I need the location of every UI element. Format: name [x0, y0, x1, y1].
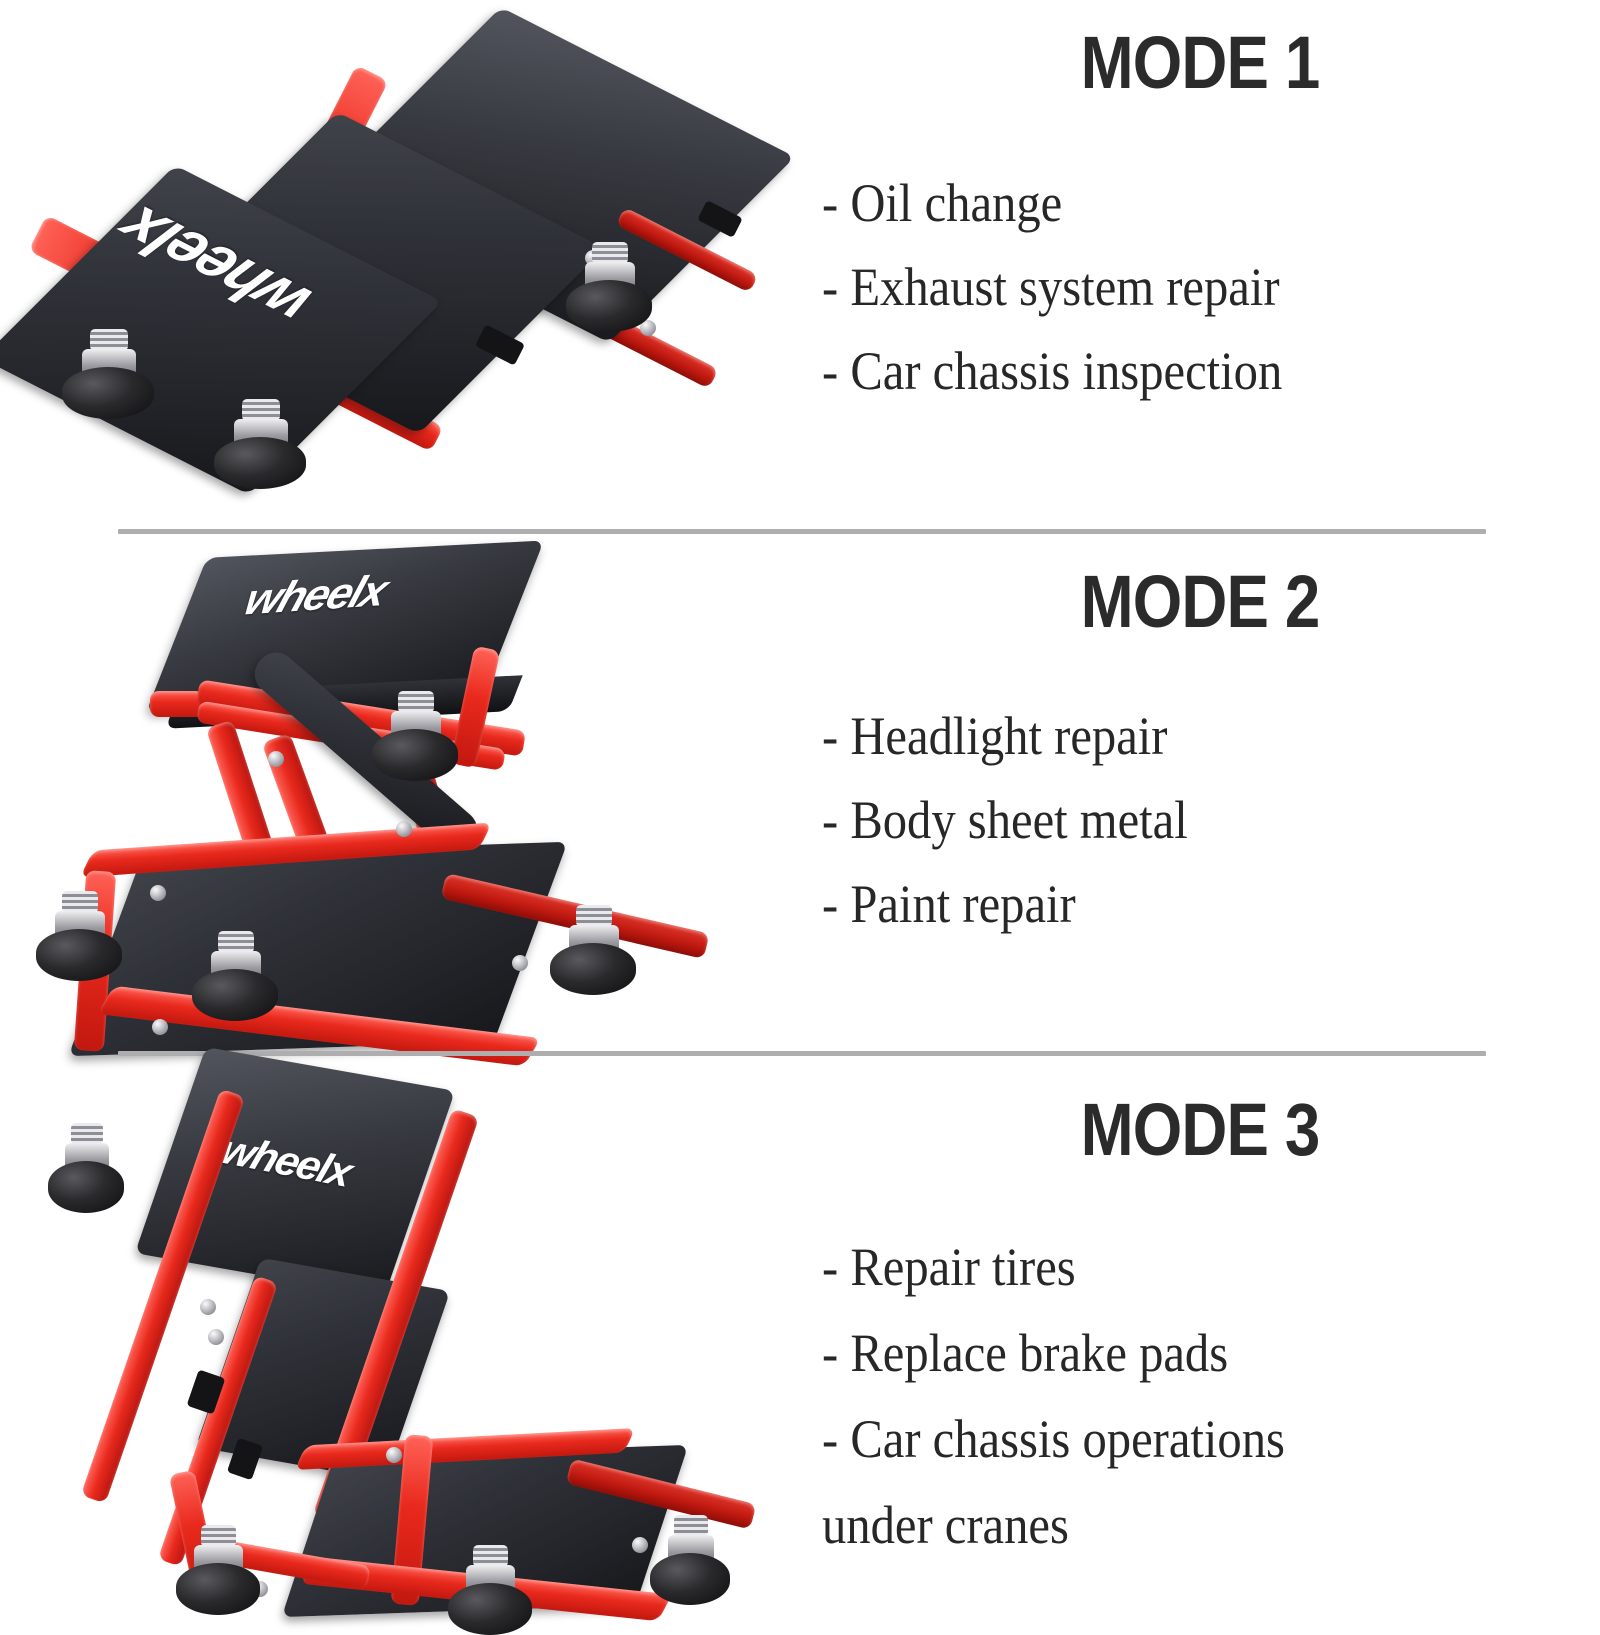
- caster-spring: [242, 399, 281, 421]
- bolt-mid: [396, 821, 412, 837]
- caster-seat-right: [372, 707, 458, 783]
- caster-tire: [214, 437, 306, 489]
- caster-tire: [550, 943, 636, 995]
- mode-section-3: wheelx: [0, 1041, 1600, 1588]
- caster-spring: [62, 891, 98, 913]
- creeper-flat-illustration: wheelx: [0, 0, 800, 519]
- bullet-dash: -: [822, 329, 838, 413]
- mode-1-text-column: MODE 1 - Oil change - Exhaust system rep…: [800, 0, 1600, 519]
- list-item: - Replace brake pads: [822, 1310, 1522, 1396]
- caster-tire: [192, 969, 278, 1021]
- caster-tire: [372, 729, 458, 781]
- bullet-text: Paint repair: [850, 874, 1075, 934]
- mode-2-feature-list: - Headlight repair - Body sheet metal - …: [800, 694, 1600, 946]
- caster-front-left: [176, 1541, 260, 1615]
- bolt-base-right: [512, 955, 528, 971]
- frame-tab-left: [150, 691, 204, 717]
- bolt-base-left: [150, 885, 166, 901]
- bullet-text: Body sheet metal: [850, 790, 1187, 850]
- bullet-dash: -: [822, 1224, 838, 1310]
- bolt-backrest-lower: [208, 1329, 224, 1345]
- creeper-chair-illustration: wheelx: [0, 1041, 800, 1588]
- product-image-mode-3: wheelx: [0, 1041, 800, 1588]
- bullet-text: Repair tires: [850, 1237, 1075, 1297]
- caster-front-left: [62, 345, 154, 425]
- product-image-mode-1: wheelx: [0, 0, 800, 519]
- bullet-text: Oil change: [850, 173, 1062, 233]
- bolt-pivot: [268, 751, 284, 767]
- mode-2-text-column: MODE 2 - Headlight repair - Body sheet m…: [800, 519, 1600, 1041]
- creeper-seat-illustration: wheelx: [0, 519, 800, 1041]
- caster-base-left: [36, 907, 122, 983]
- list-item-continuation: under cranes: [822, 1482, 1522, 1568]
- caster-tire: [176, 1563, 260, 1615]
- caster-backrest-top: [48, 1139, 124, 1207]
- bullet-text: Replace brake pads: [850, 1323, 1228, 1383]
- bullet-text: Headlight repair: [850, 706, 1167, 766]
- list-item: - Oil change: [822, 161, 1522, 245]
- bolt-seat-left: [386, 1447, 402, 1463]
- bolt-base-left-lower: [152, 1019, 168, 1035]
- bullet-text: Car chassis inspection: [850, 341, 1282, 401]
- mode-3-text-column: MODE 3 - Repair tires - Replace brake pa…: [800, 1041, 1600, 1588]
- bullet-dash: -: [822, 778, 838, 862]
- list-item: - Car chassis operations: [822, 1396, 1522, 1482]
- bullet-dash: -: [822, 1396, 838, 1482]
- caster-spring: [674, 1515, 708, 1537]
- caster-spring: [473, 1545, 508, 1567]
- infographic-page: wheelx: [0, 0, 1600, 1600]
- list-item: - Car chassis inspection: [822, 329, 1522, 413]
- list-item: - Paint repair: [822, 862, 1522, 946]
- caster-tire: [650, 1553, 730, 1605]
- caster-tire: [62, 367, 154, 419]
- caster-spring: [398, 691, 434, 713]
- bullet-dash: -: [822, 694, 838, 778]
- caster-front-right: [214, 415, 306, 495]
- mode-section-2: wheelx: [0, 519, 1600, 1041]
- mode-3-feature-list: - Repair tires - Replace brake pads - Ca…: [800, 1224, 1600, 1568]
- bolt-seat-right: [632, 1537, 648, 1553]
- bullet-dash: -: [822, 161, 838, 245]
- caster-rear-right: [566, 258, 652, 334]
- product-image-mode-2: wheelx: [0, 519, 800, 1041]
- caster-rear-right: [650, 1531, 730, 1603]
- bullet-text: Car chassis operations: [850, 1409, 1285, 1469]
- caster-base-front: [192, 947, 278, 1023]
- list-item: - Body sheet metal: [822, 778, 1522, 862]
- bullet-text: Exhaust system repair: [850, 257, 1279, 317]
- bolt-backrest-upper: [200, 1299, 216, 1315]
- caster-tire: [48, 1161, 124, 1213]
- mode-1-feature-list: - Oil change - Exhaust system repair - C…: [800, 161, 1600, 413]
- caster-spring: [576, 905, 612, 927]
- list-item: - Headlight repair: [822, 694, 1522, 778]
- caster-spring: [201, 1525, 236, 1547]
- bullet-dash: -: [822, 245, 838, 329]
- caster-spring: [592, 242, 628, 264]
- caster-front-right: [448, 1561, 532, 1635]
- caster-base-right: [550, 921, 636, 997]
- mode-section-1: wheelx: [0, 0, 1600, 519]
- mode-2-title: MODE 2: [856, 559, 1544, 644]
- caster-spring: [71, 1123, 103, 1145]
- caster-spring: [90, 329, 129, 351]
- caster-tire: [566, 280, 652, 332]
- bullet-dash: -: [822, 862, 838, 946]
- list-item: - Repair tires: [822, 1224, 1522, 1310]
- mode-1-title: MODE 1: [856, 20, 1544, 105]
- mode-3-title: MODE 3: [856, 1087, 1544, 1172]
- list-item: - Exhaust system repair: [822, 245, 1522, 329]
- bullet-dash: -: [822, 1310, 838, 1396]
- caster-spring: [218, 931, 254, 953]
- caster-tire: [36, 929, 122, 981]
- caster-tire: [448, 1583, 532, 1635]
